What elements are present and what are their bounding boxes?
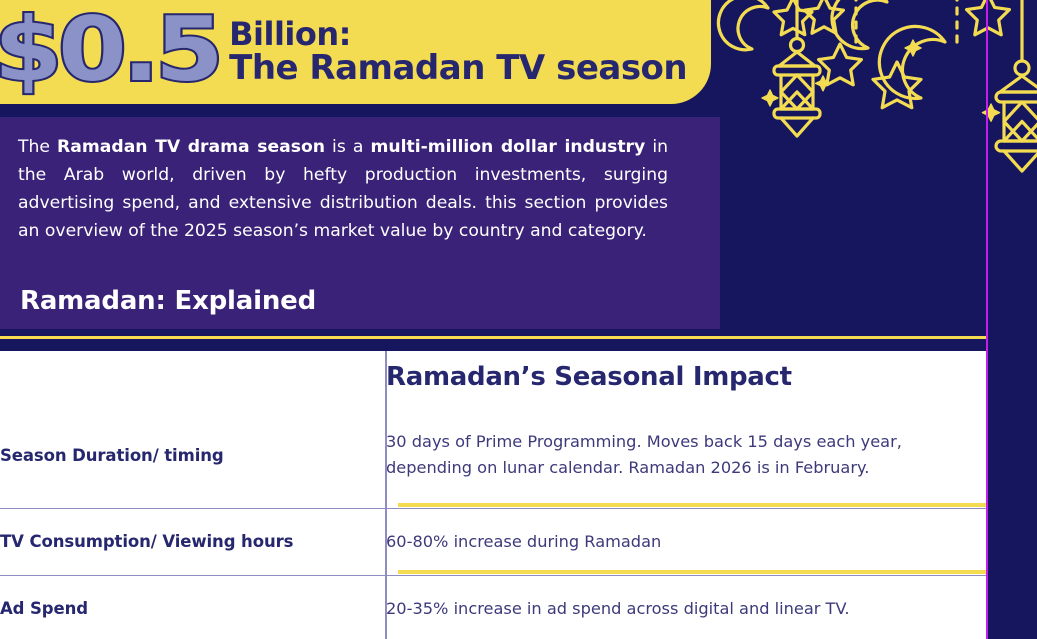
lantern-icon	[996, 0, 1037, 171]
row-value-text: 20-35% increase in ad spend across digit…	[386, 599, 850, 618]
yellow-accent-rule	[398, 503, 986, 507]
section-divider-rule	[0, 336, 986, 339]
magenta-guide-line	[986, 0, 988, 639]
table-right-column-title: Ramadan’s Seasonal Impact	[386, 351, 986, 403]
row-label: Season Duration/ timing	[0, 403, 386, 508]
headline-line-1: Billion:	[229, 18, 687, 51]
table-header-row: Ramadan’s Seasonal Impact	[0, 351, 986, 403]
star-icon	[774, 0, 812, 35]
impact-table: Ramadan’s Seasonal Impact Season Duratio…	[0, 351, 986, 639]
star-icon	[873, 62, 921, 108]
row-value: 30 days of Prime Programming. Moves back…	[386, 403, 986, 508]
table-row: TV Consumption/ Viewing hours 60-80% inc…	[0, 508, 986, 575]
sparkle-icon	[762, 90, 778, 106]
sparkle-icon	[905, 40, 921, 56]
star-icon	[805, 0, 844, 33]
table-row: Ad Spend 20-35% increase in ad spend acr…	[0, 575, 986, 639]
title-banner: $0.5 Billion: The Ramadan TV season	[0, 0, 711, 104]
row-label: Ad Spend	[0, 575, 386, 639]
headline-line-2: The Ramadan TV season	[229, 51, 687, 86]
sparkle-icon	[982, 104, 999, 121]
intro-panel: The Ramadan TV drama season is a multi-m…	[0, 117, 720, 329]
table-row: Season Duration/ timing 30 days of Prime…	[0, 403, 986, 508]
crescent-moon-icon	[928, 38, 968, 82]
star-icon	[819, 44, 862, 85]
row-value: 60-80% increase during Ramadan	[386, 508, 986, 575]
sparkle-icon	[816, 76, 831, 91]
row-value-text: 60-80% increase during Ramadan	[386, 532, 661, 551]
crescent-moon-icon	[718, 0, 768, 50]
intro-heading: Ramadan: Explained	[20, 286, 316, 316]
row-value-text: 30 days of Prime Programming. Moves back…	[386, 432, 902, 477]
intro-paragraph: The Ramadan TV drama season is a multi-m…	[18, 133, 668, 245]
table-corner-cell	[0, 351, 386, 403]
lantern-icon	[774, 0, 820, 136]
crescent-moon-icon	[879, 26, 945, 98]
infographic-page: $0.5 Billion: The Ramadan TV season The …	[0, 0, 1037, 639]
crescent-moon-icon	[832, 0, 887, 49]
row-label: TV Consumption/ Viewing hours	[0, 508, 386, 575]
row-value: 20-35% increase in ad spend across digit…	[386, 575, 986, 639]
headline-amount: $0.5	[0, 6, 219, 94]
yellow-accent-rule	[398, 570, 986, 574]
